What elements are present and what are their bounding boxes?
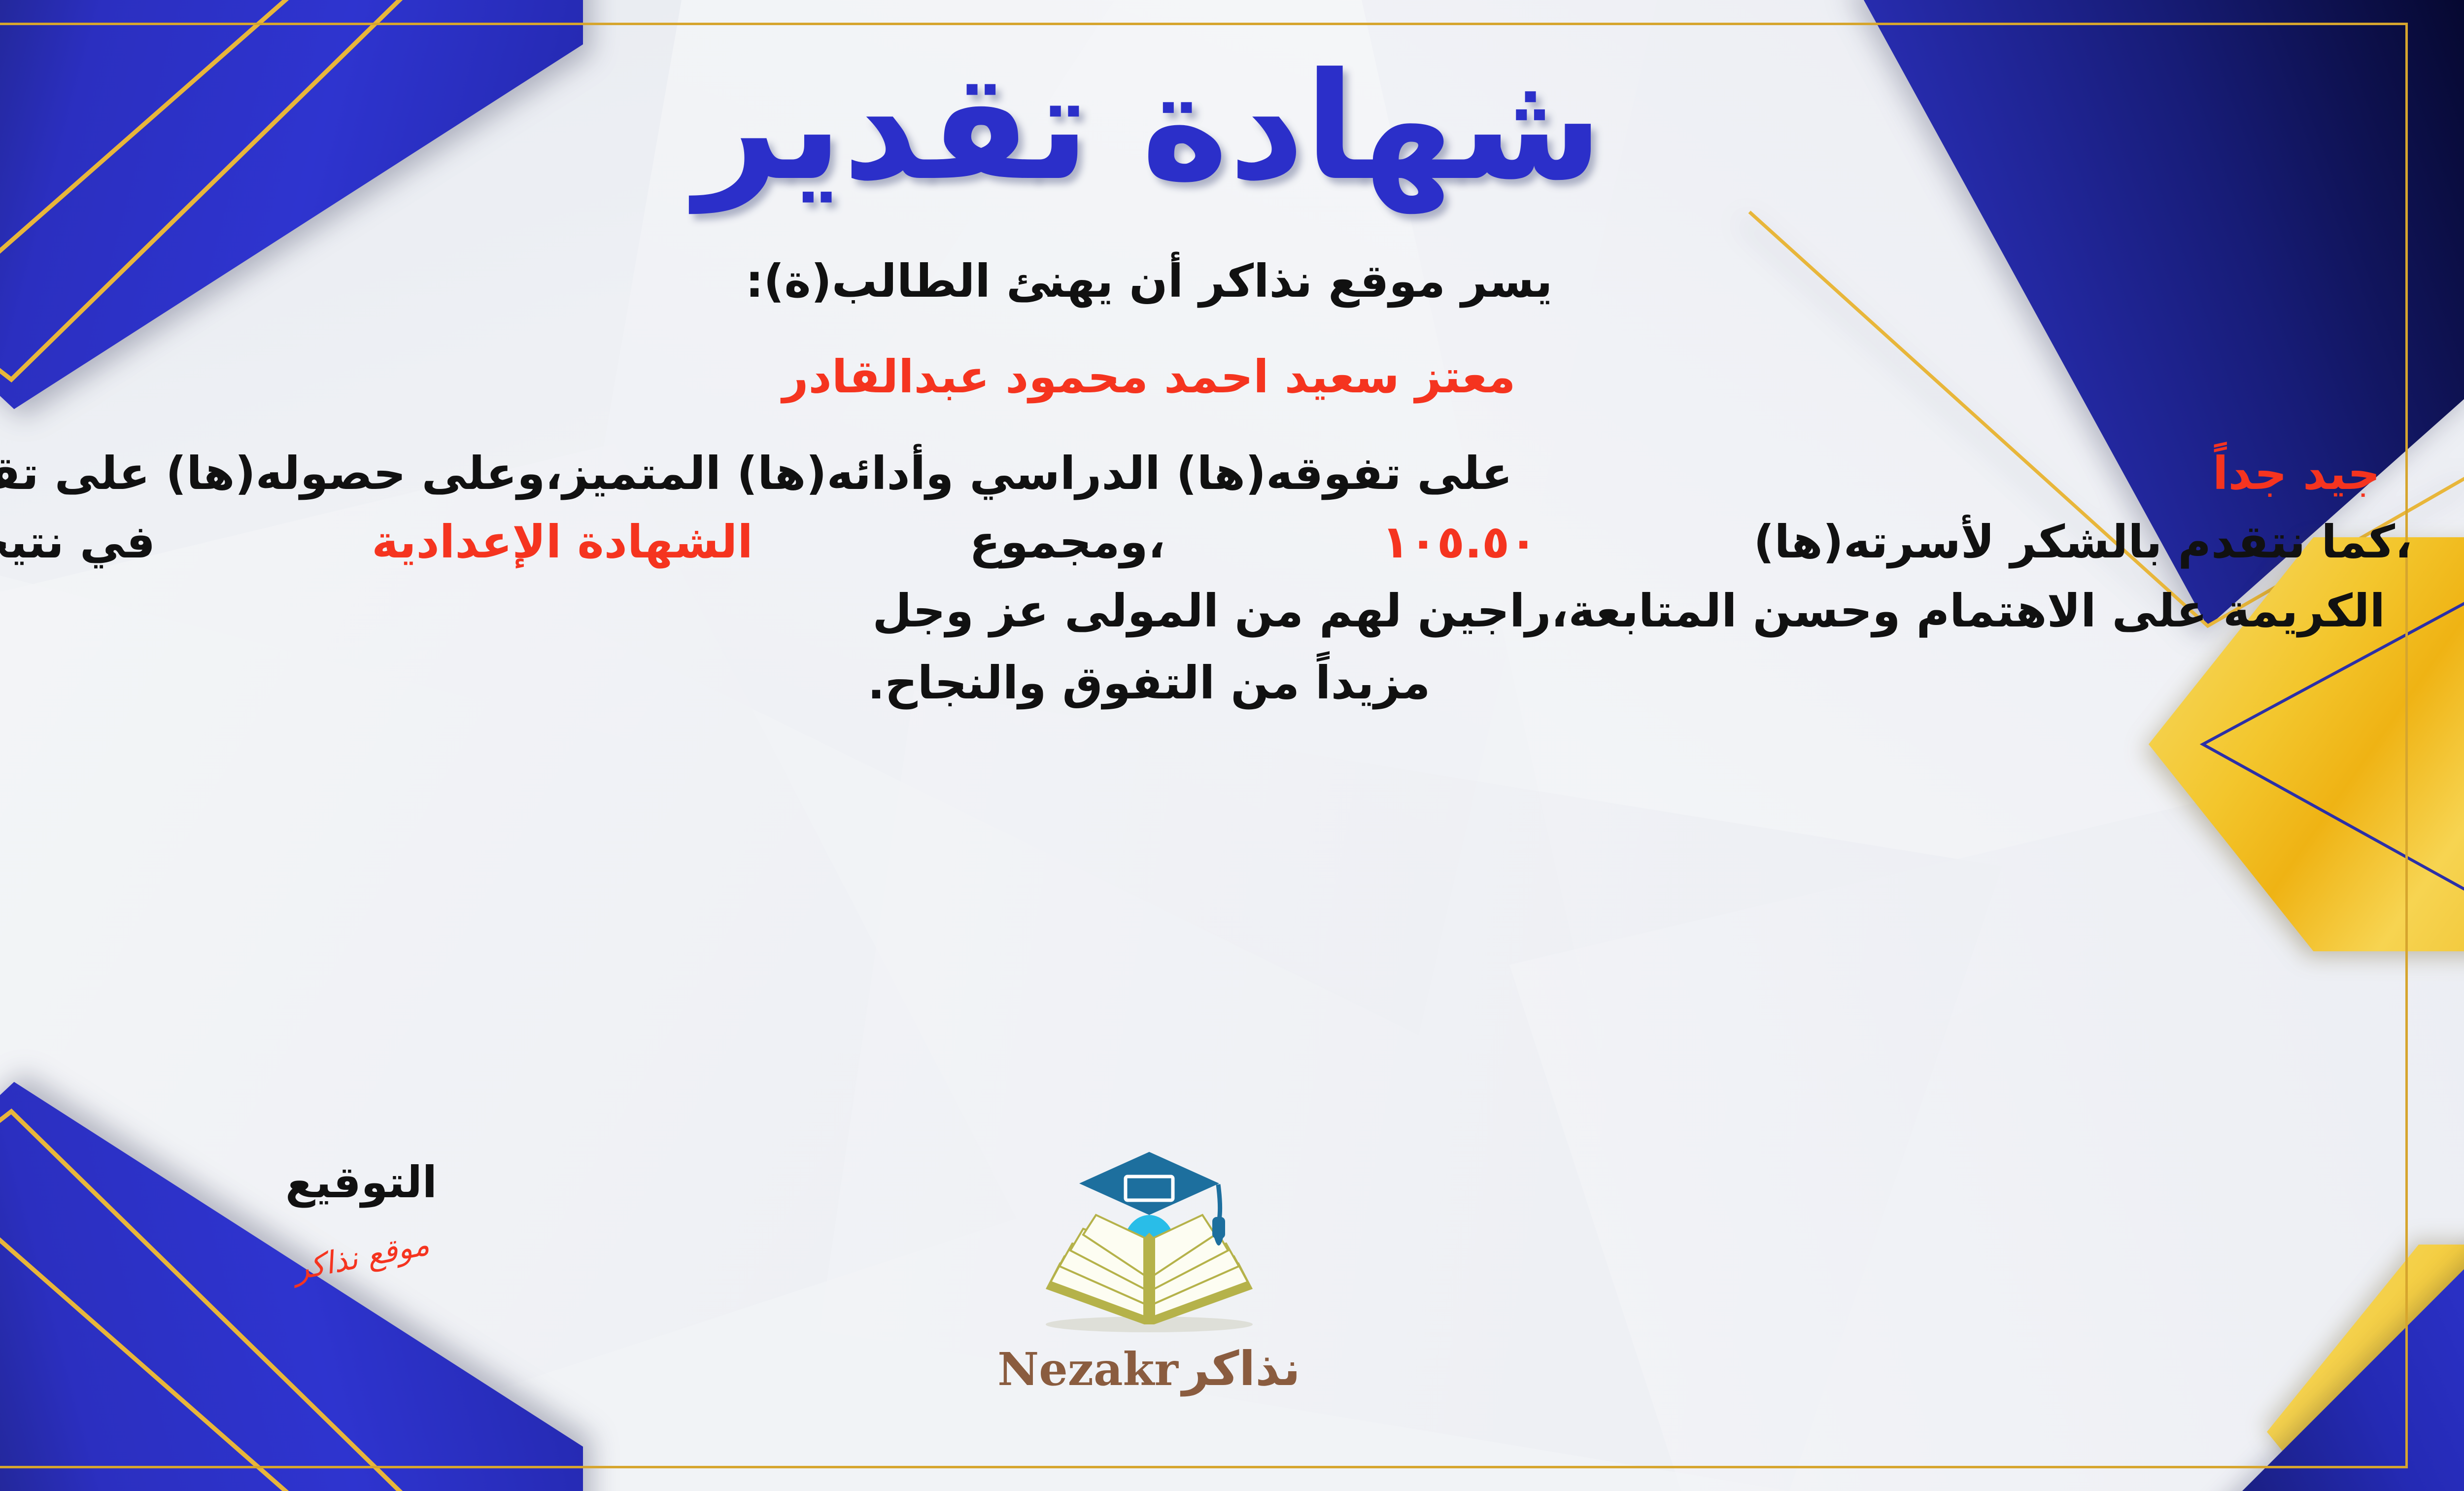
signature-label: التوقيع [233, 1161, 489, 1204]
graduate-book-icon [996, 1141, 1302, 1348]
exam-name: الشهادة الإعدادية [372, 508, 753, 577]
logo-wordmark: نذاكر Nezakr [996, 1345, 1302, 1392]
thanks-text: ،كما نتقدم بالشكر لأسرته(ها) [1753, 508, 2412, 577]
result-line: ،كما نتقدم بالشكر لأسرته(ها) ١٠٥.٥٠ ،ومج… [0, 508, 2432, 577]
certificate-page: شهادة تقدير يسر موقع نذاكر أن يهنئ الطال… [0, 0, 2464, 1491]
logo-arabic-text: نذاكر [1182, 1345, 1300, 1392]
total-label: ،ومجموع [969, 508, 1165, 577]
achievement-line: جيد جداً على تفوقه(ها) الدراسي وأدائه(ها… [0, 439, 2387, 508]
certificate-title: شهادة تقدير [695, 49, 1603, 205]
in-result-label: في نتيجة [0, 508, 155, 577]
brand-logo: نذاكر Nezakr [996, 1141, 1302, 1392]
grade-value: جيد جداً [2213, 439, 2380, 508]
signature-mark: موقع نذاكر [290, 1226, 432, 1287]
certificate-footer: التوقيع موقع نذاكر [0, 1141, 2380, 1437]
family-thanks-text: الكريمة على الاهتمام وحسن المتابعة،راجين… [872, 577, 2385, 646]
student-name: معتز سعيد احمد محمود عبدالقادر [783, 343, 1516, 412]
family-thanks-line: الكريمة على الاهتمام وحسن المتابعة،راجين… [0, 577, 2459, 646]
total-score: ١٠٥.٥٠ [1382, 508, 1538, 577]
graduate-book-icon-svg [996, 1141, 1302, 1348]
logo-latin-text: Nezakr [997, 1347, 1178, 1392]
closing-line: مزيداً من التفوق والنجاح. [868, 649, 1431, 718]
greeting-line: يسر موقع نذاكر أن يهنئ الطالب(ة): [746, 247, 1553, 316]
achievement-text: على تفوقه(ها) الدراسي وأدائه(ها) المتميز… [0, 439, 1512, 508]
certificate-body: يسر موقع نذاكر أن يهنئ الطالب(ة): معتز س… [0, 247, 2380, 718]
signature-block: التوقيع موقع نذاكر [233, 1161, 489, 1275]
